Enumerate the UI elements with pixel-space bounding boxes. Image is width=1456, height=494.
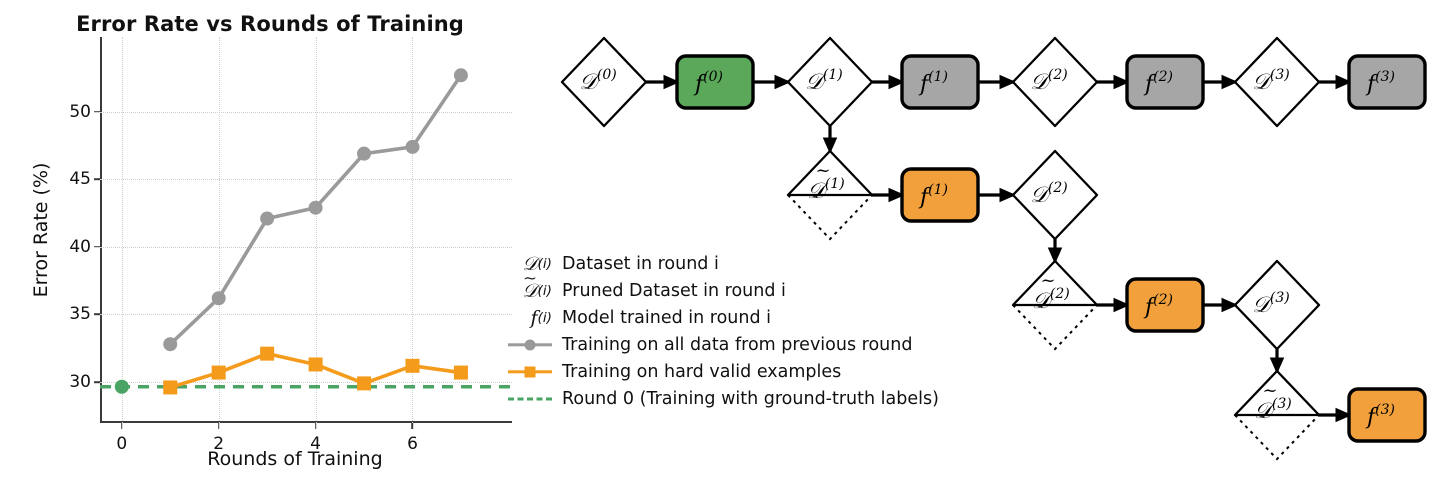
figure-root: Error Rate vs Rounds of Training 3035404… (0, 0, 1456, 494)
diagram-node-d3b[interactable]: 𝒟(3) (1235, 261, 1319, 349)
diagram-nodes: 𝒟(0)f(0)𝒟(1)f(1)𝒟(2)f(2)𝒟(3)f(3)𝒟(1)~f(1… (562, 38, 1425, 459)
diagram-node-f3o[interactable]: f(3) (1349, 389, 1425, 441)
diagram-node-f1o[interactable]: f(1) (902, 169, 978, 221)
diagram-node-d0[interactable]: 𝒟(0) (562, 38, 646, 126)
diagram-node-d2b[interactable]: 𝒟(2) (1013, 151, 1097, 239)
diagram-node-d2t[interactable]: 𝒟(2) (1013, 38, 1097, 126)
diagram-node-dt2[interactable]: 𝒟(2)~ (1013, 261, 1097, 349)
pruned-diamond-bottom (1235, 415, 1319, 459)
diagram-node-f2o[interactable]: f(2) (1127, 279, 1203, 331)
tilde-accent: ~ (815, 160, 830, 181)
diagram-node-dt3[interactable]: 𝒟(3)~ (1235, 371, 1319, 459)
diagram-node-f0[interactable]: f(0) (677, 56, 753, 108)
tilde-accent: ~ (1262, 380, 1277, 401)
pipeline-diagram: 𝒟(0)f(0)𝒟(1)f(1)𝒟(2)f(2)𝒟(3)f(3)𝒟(1)~f(1… (0, 0, 1456, 494)
diagram-node-d1[interactable]: 𝒟(1) (788, 38, 872, 126)
diagram-node-f3g[interactable]: f(3) (1349, 56, 1425, 108)
tilde-accent: ~ (1040, 270, 1055, 291)
pruned-diamond-bottom (788, 195, 872, 239)
diagram-node-dt1[interactable]: 𝒟(1)~ (788, 151, 872, 239)
diagram-node-f1g[interactable]: f(1) (902, 56, 978, 108)
diagram-node-f2g[interactable]: f(2) (1127, 56, 1203, 108)
diagram-edges (646, 82, 1349, 415)
diagram-node-d3t[interactable]: 𝒟(3) (1235, 38, 1319, 126)
pruned-diamond-bottom (1013, 305, 1097, 349)
